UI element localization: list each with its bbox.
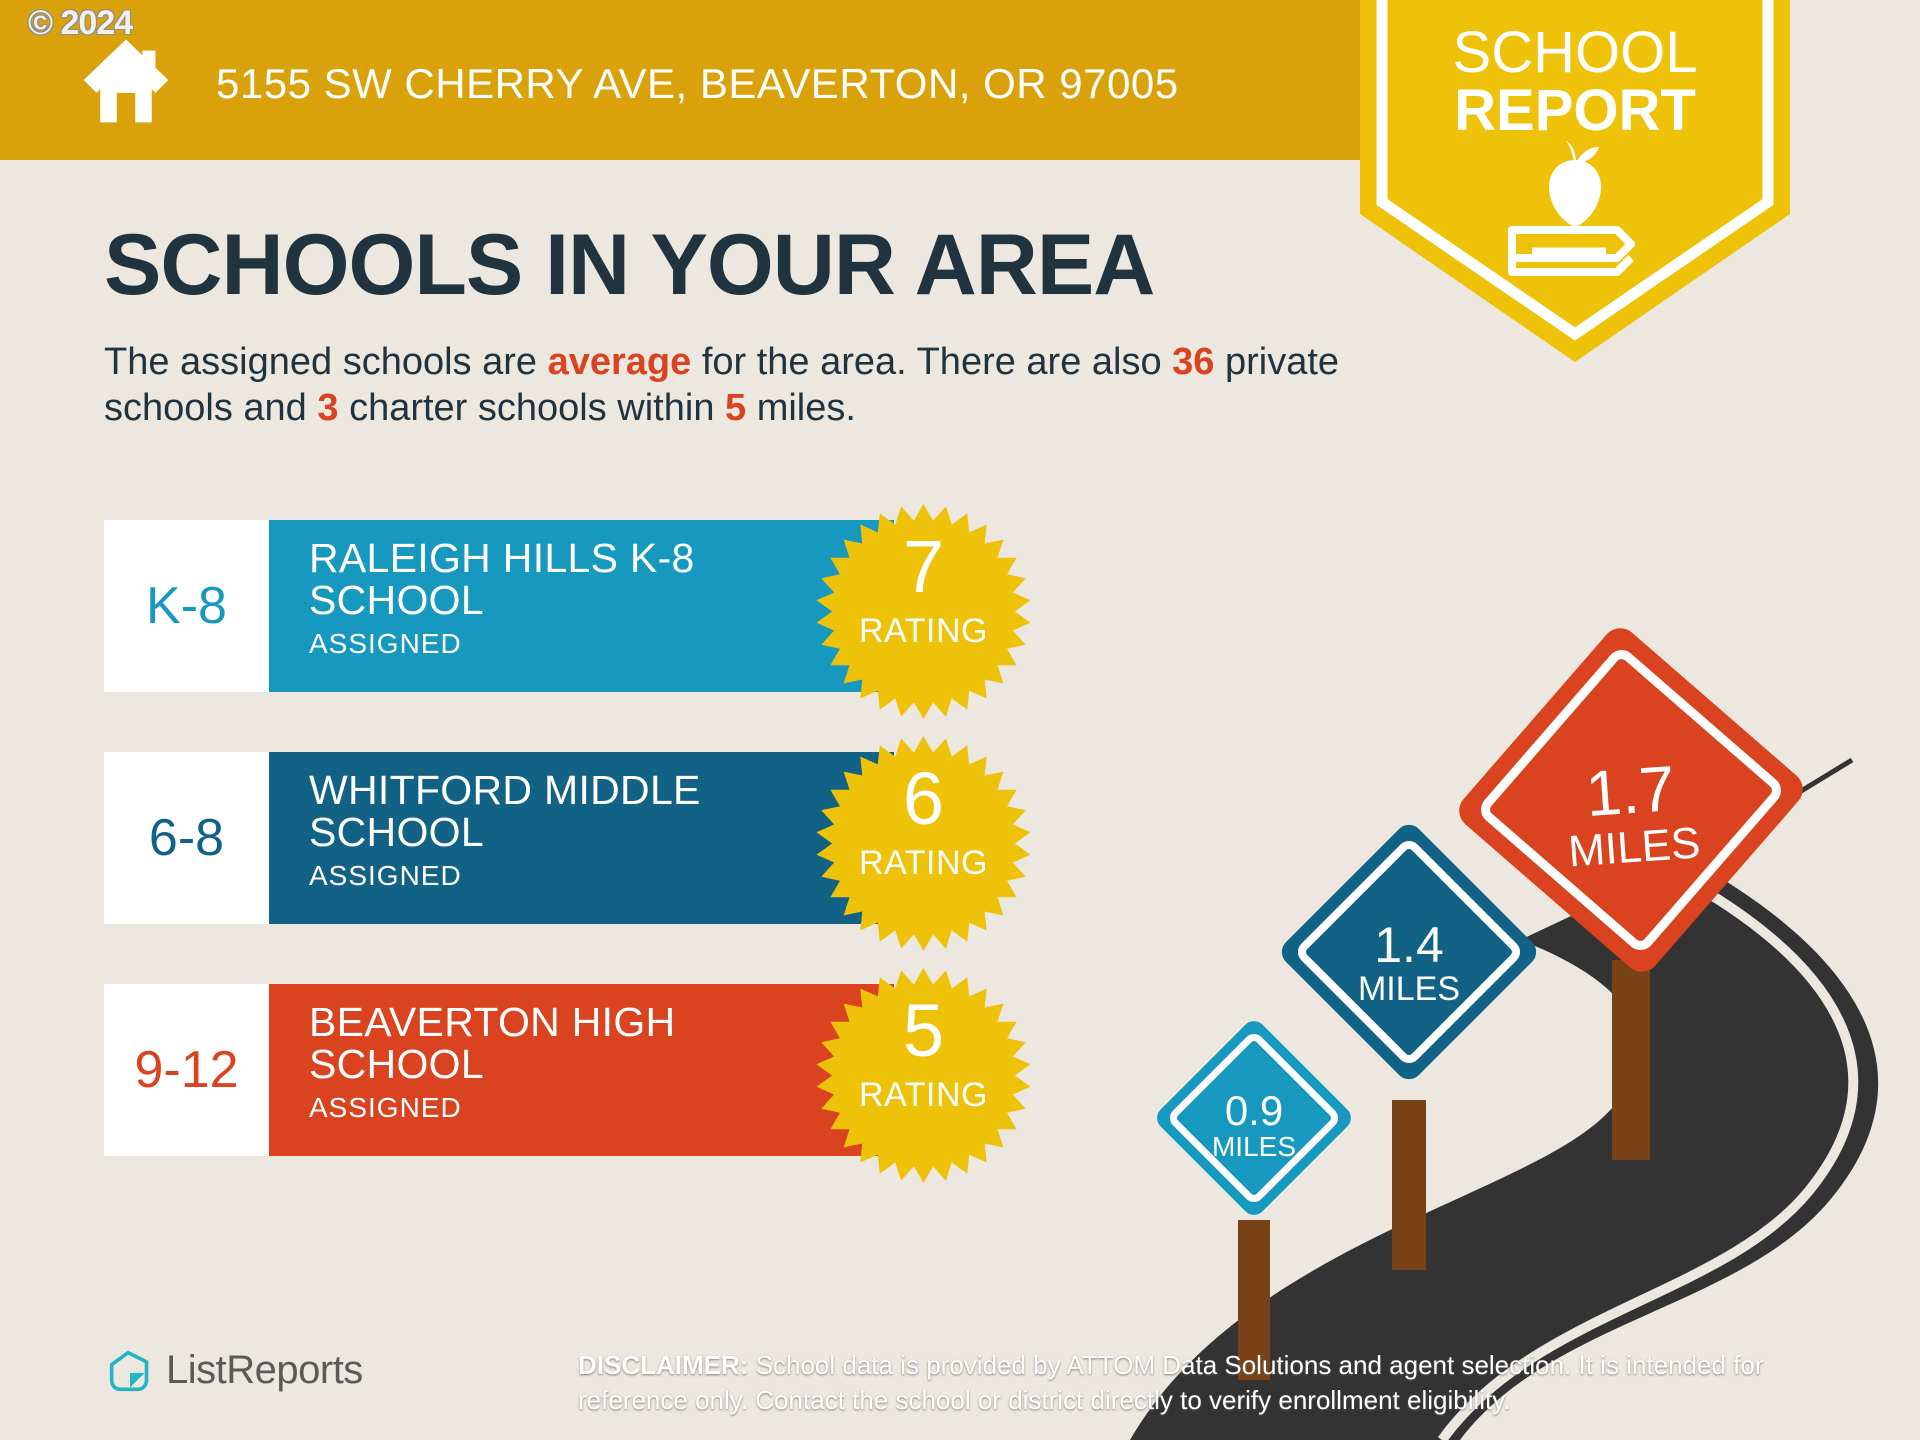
subtitle-part-2: for the area. There are also	[691, 341, 1172, 383]
sign-unit: MILES	[1212, 1131, 1296, 1162]
school-bar: BEAVERTON HIGH SCHOOL ASSIGNED	[269, 984, 894, 1156]
grade-label: K-8	[146, 580, 227, 632]
grade-label: 9-12	[134, 1044, 238, 1096]
copyright-text: © 2024	[28, 4, 132, 43]
school-name-line1: WHITFORD MIDDLE	[309, 770, 894, 812]
subtitle-part-5: miles.	[746, 387, 856, 429]
sign-unit: MILES	[1358, 970, 1460, 1008]
rating-starburst: 5 RATING	[816, 968, 1031, 1183]
school-bar: WHITFORD MIDDLE SCHOOL ASSIGNED	[269, 752, 894, 924]
rating-value: 7	[816, 530, 1031, 604]
rating-label: RATING	[816, 844, 1031, 883]
school-status: ASSIGNED	[309, 1092, 894, 1124]
school-bar: RALEIGH HILLS K-8 SCHOOL ASSIGNED	[269, 520, 894, 692]
sign-post	[1392, 1100, 1426, 1270]
page-title: SCHOOLS IN YOUR AREA	[104, 222, 1154, 308]
distance-sign: 1.4 MILES	[1276, 819, 1542, 1085]
school-status: ASSIGNED	[309, 860, 894, 892]
rating-starburst: 7 RATING	[816, 504, 1031, 719]
sign-value: 1.7	[1583, 752, 1677, 830]
sign-value: 0.9	[1225, 1087, 1283, 1134]
subtitle-part-4: charter schools within	[339, 387, 726, 429]
grade-badge: 6-8	[104, 752, 269, 924]
school-row[interactable]: 6-8 WHITFORD MIDDLE SCHOOL ASSIGNED 6 RA…	[104, 752, 894, 924]
subtitle-highlight-charter-count: 3	[317, 387, 338, 429]
school-list: K-8 RALEIGH HILLS K-8 SCHOOL ASSIGNED 7 …	[104, 520, 894, 1216]
school-report-page: © 2024 5155 SW CHERRY AVE, BEAVERTON, OR…	[0, 0, 1920, 1440]
distance-sign: 0.9 MILES	[1152, 1016, 1356, 1220]
school-name-line1: BEAVERTON HIGH	[309, 1002, 894, 1044]
house-pin-icon	[108, 1349, 152, 1393]
rating-label: RATING	[816, 612, 1031, 651]
grade-badge: 9-12	[104, 984, 269, 1156]
disclaimer: DISCLAIMER: School data is provided by A…	[578, 1348, 1848, 1418]
badge-line1: SCHOOL	[1453, 20, 1698, 85]
sign-unit: MILES	[1567, 818, 1702, 876]
grade-badge: K-8	[104, 520, 269, 692]
sign-post	[1612, 960, 1650, 1160]
disclaimer-text: School data is provided by ATTOM Data So…	[578, 1350, 1764, 1415]
grade-label: 6-8	[149, 812, 224, 864]
rating-label: RATING	[816, 1076, 1031, 1115]
sign-value: 1.4	[1374, 917, 1444, 973]
badge-line2: REPORT	[1454, 78, 1696, 143]
school-name-line2: SCHOOL	[309, 812, 894, 854]
property-address: 5155 SW CHERRY AVE, BEAVERTON, OR 97005	[216, 60, 1179, 108]
home-icon	[80, 34, 172, 126]
rating-value: 5	[816, 994, 1031, 1068]
school-status: ASSIGNED	[309, 628, 894, 660]
rating-value: 6	[816, 762, 1031, 836]
distance-signs-illustration: 1.7 MILES 1.4 MILES 0.9 MILES	[1130, 560, 1920, 1440]
subtitle-part-1: The assigned schools are	[104, 341, 548, 383]
listreports-logo[interactable]: ListReports	[108, 1348, 363, 1393]
rating-starburst: 6 RATING	[816, 736, 1031, 951]
subtitle-highlight-average: average	[548, 341, 692, 383]
school-report-badge: SCHOOL REPORT	[1360, 0, 1790, 362]
logo-text: ListReports	[166, 1348, 363, 1393]
school-row[interactable]: 9-12 BEAVERTON HIGH SCHOOL ASSIGNED 5 RA…	[104, 984, 894, 1156]
school-name-line1: RALEIGH HILLS K-8	[309, 538, 894, 580]
school-row[interactable]: K-8 RALEIGH HILLS K-8 SCHOOL ASSIGNED 7 …	[104, 520, 894, 692]
school-name-line2: SCHOOL	[309, 580, 894, 622]
disclaimer-label: DISCLAIMER:	[578, 1350, 748, 1380]
subtitle: The assigned schools are average for the…	[104, 340, 1394, 431]
school-name-line2: SCHOOL	[309, 1044, 894, 1086]
subtitle-highlight-radius: 5	[725, 387, 746, 429]
subtitle-highlight-private-count: 36	[1172, 341, 1214, 383]
